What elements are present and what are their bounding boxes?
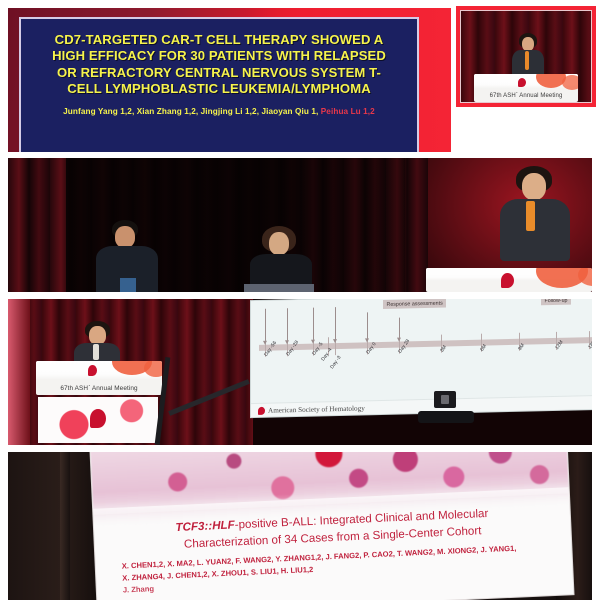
slide-title-line-4: CELL LYMPHOBLASTIC LEUKEMIA/LYMPHOMA [30,81,408,97]
timeline-axis [259,337,592,351]
panelist-center-head [269,232,289,255]
panel-1-title-slide: CD7-TARGETED CAR-T CELL THERAPY SHOWED A… [0,0,600,152]
panelist-left-head [115,226,135,248]
slide-title: CD7-TARGETED CAR-T CELL THERAPY SHOWED A… [21,19,417,98]
timeline-arrow [313,308,314,340]
title-slide-inner: CD7-TARGETED CAR-T CELL THERAPY SHOWED A… [19,17,419,152]
panelist-left [96,220,158,292]
chip-response-assessments: Response assessments [383,299,446,309]
slide-title-line-2: HIGH EFFICACY FOR 30 PATIENTS WITH RELAP… [30,48,408,64]
timeline-arrow [287,308,288,340]
slide-title-line-3: OR REFRACTORY CENTRAL NERVOUS SYSTEM T- [30,65,408,81]
timeline-arrow [399,318,400,338]
stage-light-edge [8,299,30,445]
photo-collage: CD7-TARGETED CAR-T CELL THERAPY SHOWED A… [0,0,600,600]
speaker-inset: 67th ASHˊ Annual Meeting [456,6,596,107]
podium-front-graphic [38,397,158,443]
panel-3-timeline-slide: 67th ASHˊ Annual Meeting [0,299,600,445]
panel-4-tcf3-slide: TCF3::HLF-positive B-ALL: Integrated Cli… [0,452,600,600]
camera-on-tripod [418,391,474,427]
timeline-label: Day -3 [330,355,343,370]
podium: 67th ASHˊ Annual Meeting [474,74,578,102]
tcf3-slide-photo: TCF3::HLF-positive B-ALL: Integrated Cli… [8,452,592,600]
panelist-center-table [244,284,314,292]
slide-authors-highlight: Peihua Lu 1,2 [321,107,375,116]
podium-sign-text: 67th ASHˊ Annual Meeting [36,385,162,392]
speaker-at-podium [500,166,570,262]
timeline-label: Day -4 [321,348,334,363]
podium-decor-blob [578,268,592,286]
podium [426,268,592,292]
ash-logo-icon [88,365,97,376]
gene-name: TCF3::HLF [175,518,235,534]
speaker-scarf [526,201,535,231]
slide-authors: Junfang Yang 1,2, Xian Zhang 1,2, Jingji… [21,107,417,117]
chip-follow-up: Follow-up [541,299,571,305]
timeline-arrow [335,307,336,339]
camera-lens [441,395,449,404]
speaker-head [522,37,534,51]
room-wall-left [8,452,104,600]
speaker-scarf [525,51,529,70]
ash-logo-icon [90,409,106,428]
slide-footer-text: American Society of Hematology [268,404,365,414]
timeline-arrow [367,312,368,338]
timeline-arrow [265,309,266,341]
slide-title-line-1: CD7-TARGETED CAR-T CELL THERAPY SHOWED A [30,32,408,48]
camera-base [418,411,474,423]
panel-2-panel-discussion [0,158,600,292]
podium: 67th ASHˊ Annual Meeting [36,361,162,395]
speaker-collar [93,344,99,360]
timeline-slide-photo: 67th ASHˊ Annual Meeting [8,299,592,445]
ash-logo-icon [501,273,514,288]
ash-logo-icon [518,78,526,87]
stage-left-area: 67th ASHˊ Annual Meeting [8,299,253,445]
projection-screen: TCF3::HLF-positive B-ALL: Integrated Cli… [91,452,574,600]
speaker-inset-photo: 67th ASHˊ Annual Meeting [460,10,592,103]
panelist-left-shirt [120,278,136,292]
podium-decor-blob [562,75,578,90]
title-slide: CD7-TARGETED CAR-T CELL THERAPY SHOWED A… [8,8,451,152]
ash-logo-icon [258,406,265,414]
speaker-head [522,173,546,200]
panelist-center [248,226,314,292]
speaker-torso [500,199,570,261]
panel-discussion-photo [8,158,592,292]
slide-authors-text: Junfang Yang 1,2, Xian Zhang 1,2, Jingji… [63,107,318,116]
podium-sign-text: 67th ASHˊ Annual Meeting [474,93,578,99]
